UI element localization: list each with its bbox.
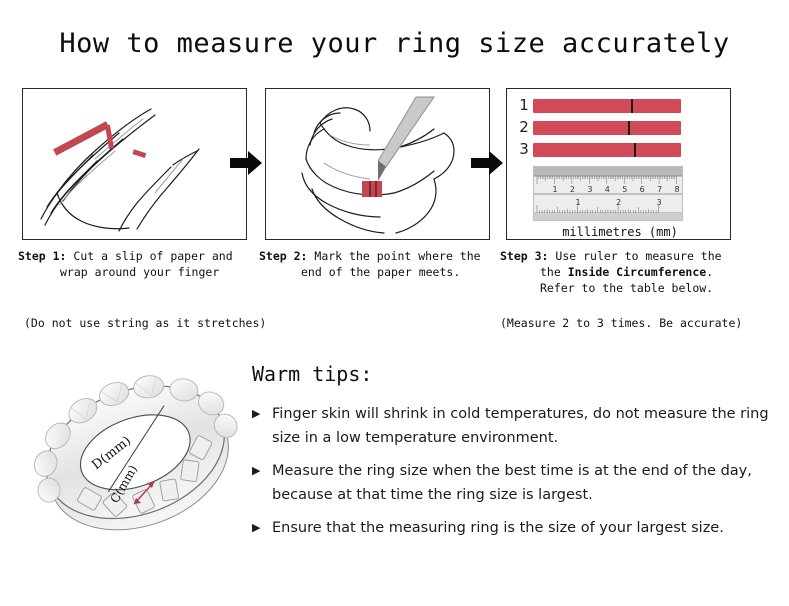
warm-tip-text: Ensure that the measuring ring is the si… xyxy=(272,520,724,536)
ring-diagram: D(mm) C(mm) xyxy=(30,352,245,557)
step-3-note: (Measure 2 to 3 times. Be accurate) xyxy=(500,316,742,330)
svg-text:5: 5 xyxy=(622,185,627,194)
step-3-label: Step 3: xyxy=(500,249,548,263)
svg-text:6: 6 xyxy=(640,185,645,194)
warm-tips-section: Warm tips: ▶ Finger skin will shrink in … xyxy=(252,362,772,549)
step-3-line1: Use ruler to measure the xyxy=(555,249,721,263)
step-3-illustration-panel: 1 2 3 xyxy=(506,88,731,240)
step-1-line2: wrap around your finger xyxy=(60,265,219,279)
step-3-caption: Step 3: Use ruler to measure the the Ins… xyxy=(500,248,750,296)
warm-tips-heading: Warm tips: xyxy=(252,362,772,386)
step-1-line1: Cut a slip of paper and xyxy=(73,249,232,263)
page-title: How to measure your ring size accurately xyxy=(0,28,789,59)
ring-size-guide-page: How to measure your ring size accurately xyxy=(0,0,789,606)
hand-marking-with-pen-icon xyxy=(266,89,489,239)
step-2-line1: Mark the point where the xyxy=(314,249,480,263)
strip-mark-tick xyxy=(631,99,633,113)
arrow-step1-to-step2 xyxy=(230,150,262,176)
svg-text:2: 2 xyxy=(570,185,575,194)
svg-text:7: 7 xyxy=(657,185,662,194)
strip-number: 2 xyxy=(515,119,533,136)
step-1-note: (Do not use string as it stretches) xyxy=(24,316,266,330)
step-1-caption: Step 1: Cut a slip of paper and wrap aro… xyxy=(18,248,268,280)
bullet-triangle-icon: ▶ xyxy=(252,516,260,540)
svg-text:3: 3 xyxy=(657,198,662,207)
step-2-label: Step 2: xyxy=(259,249,307,263)
step-2-line2: end of the paper meets. xyxy=(301,265,460,279)
step-3-line3: Refer to the table below. xyxy=(540,281,713,295)
warm-tip-item: ▶ Measure the ring size when the best ti… xyxy=(252,459,772,507)
step-1-illustration-panel xyxy=(22,88,247,240)
paper-strip xyxy=(533,121,681,135)
paper-strip xyxy=(533,143,681,157)
warm-tip-text: Measure the ring size when the best time… xyxy=(272,463,752,503)
strip-mark-tick xyxy=(628,121,630,135)
svg-text:3: 3 xyxy=(587,185,592,194)
strip-number: 3 xyxy=(515,141,533,158)
arrow-step2-to-step3 xyxy=(471,150,503,176)
svg-text:8: 8 xyxy=(675,185,680,194)
strip-row: 2 xyxy=(515,119,681,136)
paper-strip xyxy=(533,99,681,113)
bullet-triangle-icon: ▶ xyxy=(252,402,260,426)
warm-tip-item: ▶ Ensure that the measuring ring is the … xyxy=(252,516,772,540)
strip-row: 1 xyxy=(515,97,681,114)
step-3-line2-pre: the xyxy=(540,265,568,279)
ruler-graphic: 12345678 123 xyxy=(533,166,683,221)
step-3-line2-bold: Inside Circumference xyxy=(568,265,706,279)
strip-number: 1 xyxy=(515,97,533,114)
svg-text:1: 1 xyxy=(576,198,581,207)
measured-paper-strips: 1 2 3 xyxy=(515,97,681,163)
hand-with-paper-strip-icon xyxy=(23,89,246,239)
ruler-scales: 12345678 123 xyxy=(534,167,683,221)
svg-text:4: 4 xyxy=(605,185,610,194)
strip-row: 3 xyxy=(515,141,681,158)
steps-row: 1 2 3 xyxy=(0,88,789,338)
warm-tip-item: ▶ Finger skin will shrink in cold temper… xyxy=(252,402,772,450)
step-2-illustration-panel xyxy=(265,88,490,240)
strip-mark-tick xyxy=(634,143,636,157)
step-3-line2-post: . xyxy=(706,265,713,279)
bullet-triangle-icon: ▶ xyxy=(252,459,260,483)
warm-tip-text: Finger skin will shrink in cold temperat… xyxy=(272,406,769,446)
step-1-label: Step 1: xyxy=(18,249,66,263)
step-2-caption: Step 2: Mark the point where the end of … xyxy=(259,248,509,280)
svg-text:2: 2 xyxy=(616,198,621,207)
ruler-unit-label: millimetres (mm) xyxy=(545,225,695,239)
svg-text:1: 1 xyxy=(552,185,557,194)
